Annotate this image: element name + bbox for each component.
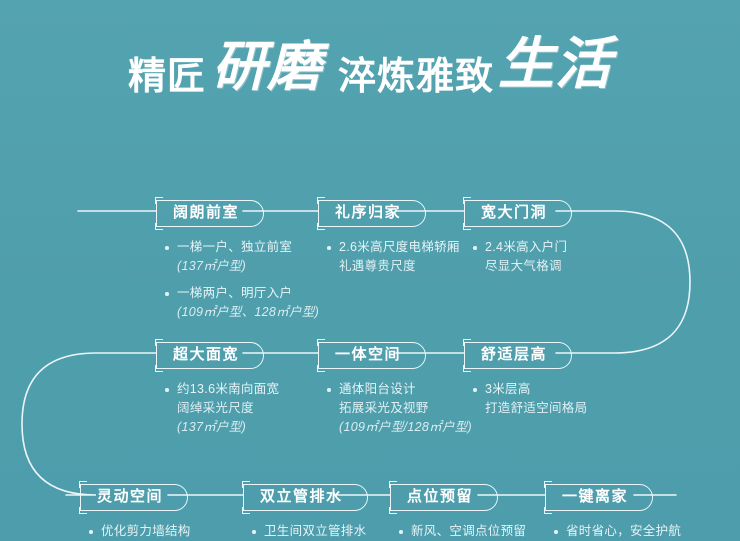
feature-title-chip[interactable]: 灵动空间: [80, 484, 188, 511]
feature-cell-kuanda-mendong[interactable]: 宽大门洞 2.4米高入户门 尽显大气格调: [464, 200, 572, 276]
bullet-group: 优化剪力墙结构 实现空间多变: [89, 522, 191, 541]
headline-segment-4: 生活: [498, 36, 612, 92]
bullet-line: (137㎡户型): [165, 257, 319, 276]
feature-cell-shushi-cenggao[interactable]: 舒适层高 3米层高 打造舒适空间格局: [464, 342, 587, 418]
bullet-group: 卫生间双立管排水 有效防止异味: [252, 522, 368, 541]
bullet-line: 一梯两户、明厅入户: [165, 284, 319, 303]
feature-title-chip[interactable]: 双立管排水: [243, 484, 368, 511]
feature-title-chip[interactable]: 超大面宽: [156, 342, 264, 369]
bullet-group: 新风、空调点位预留 便于后期装修: [399, 522, 526, 541]
bullet-line: (109㎡户型/128㎡户型): [327, 418, 472, 437]
bullet-line: (137㎡户型): [165, 418, 279, 437]
feature-title-chip[interactable]: 一键离家: [545, 484, 653, 511]
feature-title-chip[interactable]: 舒适层高: [464, 342, 572, 369]
feature-title-chip[interactable]: 一体空间: [318, 342, 426, 369]
connector-row2-to-row3-uturn: [22, 353, 156, 495]
bullet-line: 打造舒适空间格局: [473, 399, 587, 418]
bullet-line: 2.4米高入户门: [473, 238, 572, 257]
feature-title-chip[interactable]: 点位预留: [390, 484, 498, 511]
feature-bullet-list: 2.4米高入户门 尽显大气格调: [464, 238, 572, 276]
feature-title-chip[interactable]: 礼序归家: [318, 200, 426, 227]
headline-segment-2: 研磨: [212, 40, 322, 94]
bullet-group: 约13.6米南向面宽 阔绰采光尺度 (137㎡户型): [165, 380, 279, 437]
bullet-line: 优化剪力墙结构: [89, 522, 191, 541]
feature-bullet-list: 约13.6米南向面宽 阔绰采光尺度 (137㎡户型): [156, 380, 279, 437]
bullet-line: 礼遇尊贵尺度: [327, 257, 460, 276]
headline-segment-1: 精匠: [128, 58, 206, 96]
bullet-line: 约13.6米南向面宽: [165, 380, 279, 399]
bullet-line: 拓展采光及视野: [327, 399, 472, 418]
feature-bullet-list: 一梯一户、独立前室 (137㎡户型) 一梯两户、明厅入户 (109㎡户型、128…: [156, 238, 319, 322]
connector-row1-to-row2-uturn: [556, 211, 690, 353]
headline-segment-3: 淬炼雅致: [338, 58, 494, 96]
bullet-line: 省时省心，安全护航: [554, 522, 681, 541]
bullet-line: (109㎡户型、128㎡户型): [165, 303, 319, 322]
bullet-group: 3米层高 打造舒适空间格局: [473, 380, 587, 418]
bullet-line: 阔绰采光尺度: [165, 399, 279, 418]
feature-title-chip[interactable]: 阔朗前室: [156, 200, 264, 227]
bullet-group: 2.4米高入户门 尽显大气格调: [473, 238, 572, 276]
feature-cell-chaoda-mianKuan[interactable]: 超大面宽 约13.6米南向面宽 阔绰采光尺度 (137㎡户型): [156, 342, 279, 437]
feature-bullet-list: 卫生间双立管排水 有效防止异味: [243, 522, 368, 541]
bullet-line: 通体阳台设计: [327, 380, 472, 399]
feature-bullet-list: 通体阳台设计 拓展采光及视野 (109㎡户型/128㎡户型): [318, 380, 472, 437]
feature-bullet-list: 优化剪力墙结构 实现空间多变: [80, 522, 191, 541]
bullet-line: 3米层高: [473, 380, 587, 399]
bullet-group: 2.6米高尺度电梯轿厢 礼遇尊贵尺度: [327, 238, 460, 276]
bullet-line: 新风、空调点位预留: [399, 522, 526, 541]
bullet-group: 一梯一户、独立前室 (137㎡户型): [165, 238, 319, 276]
feature-title-chip[interactable]: 宽大门洞: [464, 200, 572, 227]
feature-bullet-list: 新风、空调点位预留 便于后期装修: [390, 522, 526, 541]
feature-bullet-list: 2.6米高尺度电梯轿厢 礼遇尊贵尺度: [318, 238, 460, 276]
feature-cell-dianwei-yuliu[interactable]: 点位预留 新风、空调点位预留 便于后期装修: [390, 484, 526, 541]
feature-bullet-list: 3米层高 打造舒适空间格局: [464, 380, 587, 418]
bullet-line: 卫生间双立管排水: [252, 522, 368, 541]
feature-cell-kuolang-qianshi[interactable]: 阔朗前室 一梯一户、独立前室 (137㎡户型) 一梯两户、明厅入户 (109㎡户…: [156, 200, 319, 322]
bullet-line: 2.6米高尺度电梯轿厢: [327, 238, 460, 257]
feature-cell-shuangliguan-paishui[interactable]: 双立管排水 卫生间双立管排水 有效防止异味: [243, 484, 368, 541]
page-title: 精匠研磨淬炼雅致生活: [0, 36, 740, 92]
bullet-group: 省时省心，安全护航: [554, 522, 681, 541]
feature-cell-yijian-lijia[interactable]: 一键离家 省时省心，安全护航: [545, 484, 681, 541]
bullet-group: 通体阳台设计 拓展采光及视野 (109㎡户型/128㎡户型): [327, 380, 472, 437]
feature-cell-yiti-kongjian[interactable]: 一体空间 通体阳台设计 拓展采光及视野 (109㎡户型/128㎡户型): [318, 342, 472, 437]
feature-cell-lingdong-kongjian[interactable]: 灵动空间 优化剪力墙结构 实现空间多变: [80, 484, 191, 541]
feature-bullet-list: 省时省心，安全护航: [545, 522, 681, 541]
feature-cell-lixu-guijia[interactable]: 礼序归家 2.6米高尺度电梯轿厢 礼遇尊贵尺度: [318, 200, 460, 276]
bullet-group: 一梯两户、明厅入户 (109㎡户型、128㎡户型): [165, 284, 319, 322]
bullet-line: 一梯一户、独立前室: [165, 238, 319, 257]
poster-canvas: 精匠研磨淬炼雅致生活 阔朗前室 一梯一户、独立前室 (137㎡户型): [0, 0, 740, 541]
bullet-line: 尽显大气格调: [473, 257, 572, 276]
